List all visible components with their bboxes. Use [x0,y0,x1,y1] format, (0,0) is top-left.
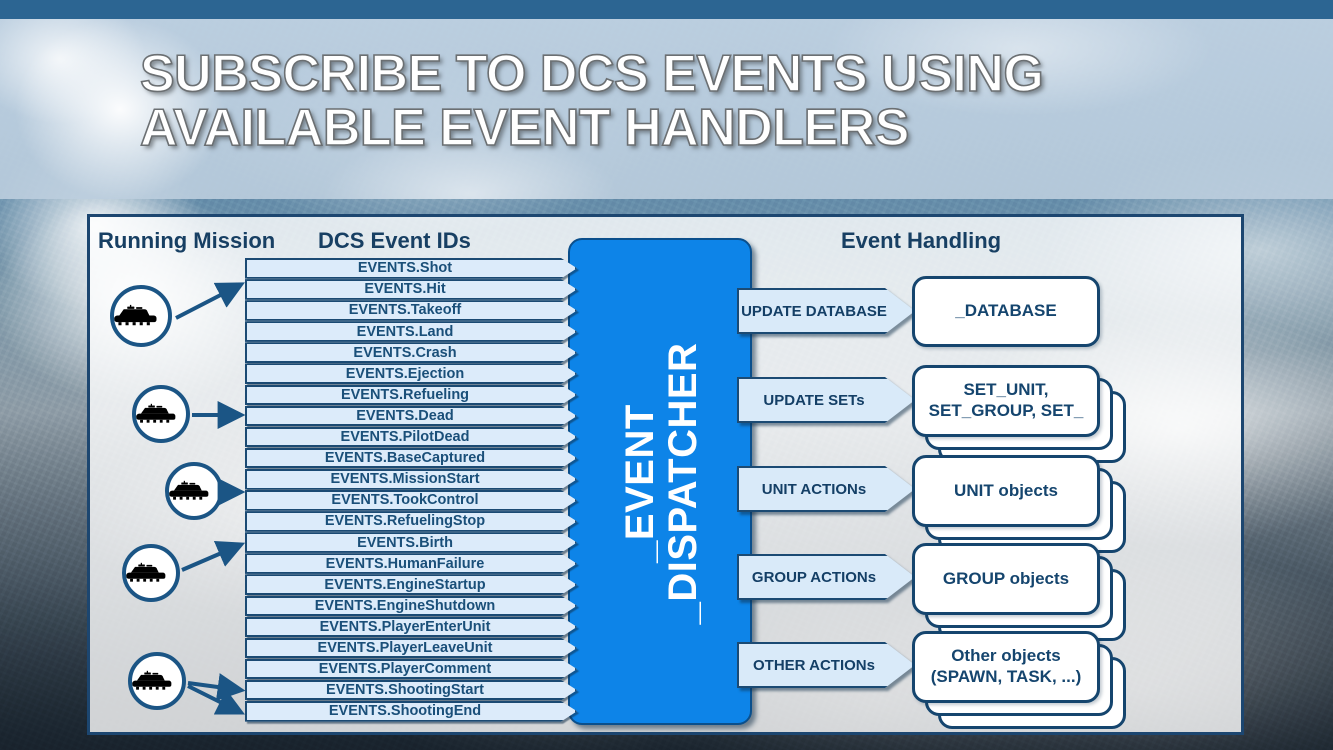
event-id-label: EVENTS.Ejection [245,363,577,384]
column-heading-running-mission: Running Mission [98,228,275,254]
handling-object-card-stack: SET_UNIT, SET_GROUP, SET_ [912,365,1132,465]
event-id-label: EVENTS.Birth [245,532,577,553]
event-id-row[interactable]: EVENTS.EngineShutdown [245,596,577,617]
column-heading-dcs-event-ids: DCS Event IDs [318,228,471,254]
event-id-row[interactable]: EVENTS.MissionStart [245,469,577,490]
event-id-label: EVENTS.Takeoff [245,300,577,321]
event-id-label: EVENTS.PlayerEnterUnit [245,617,577,638]
event-id-row[interactable]: EVENTS.PlayerComment [245,659,577,680]
handling-object-card[interactable]: UNIT objects [912,455,1100,527]
event-id-label: EVENTS.Shot [245,258,577,279]
event-id-row[interactable]: EVENTS.Land [245,321,577,342]
event-id-label: EVENTS.TookControl [245,490,577,511]
event-id-label: EVENTS.ShootingEnd [245,701,577,722]
handling-object-card-stack: UNIT objects [912,455,1132,555]
dcs-event-id-list: EVENTS.ShotEVENTS.HitEVENTS.TakeoffEVENT… [245,258,577,722]
event-id-row[interactable]: EVENTS.RefuelingStop [245,511,577,532]
event-dispatcher-label: _EVENT _DISPATCHER [570,240,754,727]
event-id-label: EVENTS.ShootingStart [245,680,577,701]
handling-object-card-stack: _DATABASE [912,276,1132,375]
page-title: SUBSCRIBE TO DCS EVENTS USING AVAILABLE … [140,48,1140,155]
event-dispatcher-box[interactable]: _EVENT _DISPATCHER [568,238,752,725]
event-id-row[interactable]: EVENTS.ShootingEnd [245,701,577,722]
handling-action-arrow[interactable]: UPDATE SETs [737,377,915,423]
event-id-label: EVENTS.Hit [245,279,577,300]
handling-action-arrow[interactable]: UPDATE DATABASE [737,288,915,334]
event-id-label: EVENTS.RefuelingStop [245,511,577,532]
handling-object-card[interactable]: Other objects (SPAWN, TASK, ...) [912,631,1100,703]
event-id-row[interactable]: EVENTS.Birth [245,532,577,553]
tank-unit-4[interactable] [122,544,180,602]
tank-unit-3[interactable] [165,462,223,520]
column-heading-event-handling: Event Handling [841,228,1001,254]
tank-icon [169,480,219,501]
handling-action-arrow[interactable]: GROUP ACTIONs [737,554,915,600]
tank-icon [136,403,186,424]
handling-object-card[interactable]: GROUP objects [912,543,1100,615]
tank-icon [126,562,176,583]
event-id-label: EVENTS.EngineShutdown [245,596,577,617]
tank-unit-1[interactable] [110,285,172,347]
event-id-row[interactable]: EVENTS.PlayerLeaveUnit [245,638,577,659]
event-id-row[interactable]: EVENTS.Hit [245,279,577,300]
event-id-label: EVENTS.MissionStart [245,469,577,490]
event-id-row[interactable]: EVENTS.Dead [245,406,577,427]
event-id-row[interactable]: EVENTS.Takeoff [245,300,577,321]
event-id-row[interactable]: EVENTS.Ejection [245,363,577,384]
event-id-label: EVENTS.PlayerLeaveUnit [245,638,577,659]
event-id-row[interactable]: EVENTS.HumanFailure [245,553,577,574]
top-accent-bar [0,0,1333,19]
event-id-label: EVENTS.BaseCaptured [245,448,577,469]
handling-object-card[interactable]: _DATABASE [912,276,1100,347]
event-id-row[interactable]: EVENTS.PlayerEnterUnit [245,617,577,638]
handling-action-label: UPDATE DATABASE [737,288,915,334]
handling-object-card-stack: GROUP objects [912,543,1132,643]
handling-action-label: UPDATE SETs [737,377,915,423]
tank-unit-2[interactable] [132,385,190,443]
event-id-label: EVENTS.Refueling [245,385,577,406]
event-id-row[interactable]: EVENTS.ShootingStart [245,680,577,701]
event-id-label: EVENTS.PilotDead [245,427,577,448]
tank-unit-5[interactable] [128,652,186,710]
event-id-label: EVENTS.EngineStartup [245,574,577,595]
handling-object-card[interactable]: SET_UNIT, SET_GROUP, SET_ [912,365,1100,437]
event-id-label: EVENTS.PlayerComment [245,659,577,680]
event-id-row[interactable]: EVENTS.BaseCaptured [245,448,577,469]
event-id-label: EVENTS.Dead [245,406,577,427]
event-id-row[interactable]: EVENTS.Crash [245,342,577,363]
event-id-row[interactable]: EVENTS.TookControl [245,490,577,511]
event-id-label: EVENTS.Land [245,321,577,342]
event-id-row[interactable]: EVENTS.Shot [245,258,577,279]
handling-action-label: GROUP ACTIONs [737,554,915,600]
handling-action-arrow[interactable]: UNIT ACTIONs [737,466,915,512]
handling-action-arrow[interactable]: OTHER ACTIONs [737,642,915,688]
tank-icon [114,304,168,327]
handling-action-label: UNIT ACTIONs [737,466,915,512]
event-id-label: EVENTS.Crash [245,342,577,363]
slide-canvas: SUBSCRIBE TO DCS EVENTS USING AVAILABLE … [0,0,1333,750]
event-id-row[interactable]: EVENTS.Refueling [245,385,577,406]
handling-action-label: OTHER ACTIONs [737,642,915,688]
event-id-label: EVENTS.HumanFailure [245,553,577,574]
event-id-row[interactable]: EVENTS.PilotDead [245,427,577,448]
event-id-row[interactable]: EVENTS.EngineStartup [245,574,577,595]
handling-object-card-stack: Other objects (SPAWN, TASK, ...) [912,631,1132,731]
tank-icon [132,670,182,691]
